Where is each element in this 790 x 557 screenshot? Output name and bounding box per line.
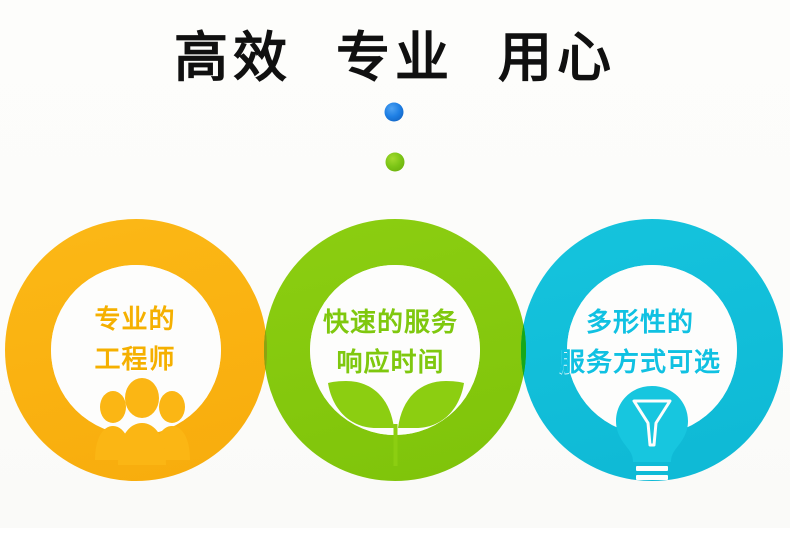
circle-label-response-time-line-1: 快速的服务 <box>298 303 483 343</box>
circle-label-engineers: 专业的 工程师 <box>55 300 215 380</box>
venn-diagram <box>0 0 790 557</box>
circle-label-service-modes-line-2: 服务方式可选 <box>525 343 755 383</box>
circle-label-engineers-line-1: 专业的 <box>55 300 215 340</box>
circle-label-response-time: 快速的服务 响应时间 <box>298 303 483 383</box>
poster-canvas: 高效专业用心 <box>0 0 790 557</box>
circle-label-service-modes: 多形性的 服务方式可选 <box>525 303 755 383</box>
circle-label-response-time-line-2: 响应时间 <box>298 343 483 383</box>
circle-label-service-modes-line-1: 多形性的 <box>525 303 755 343</box>
circle-label-engineers-line-2: 工程师 <box>55 340 215 380</box>
